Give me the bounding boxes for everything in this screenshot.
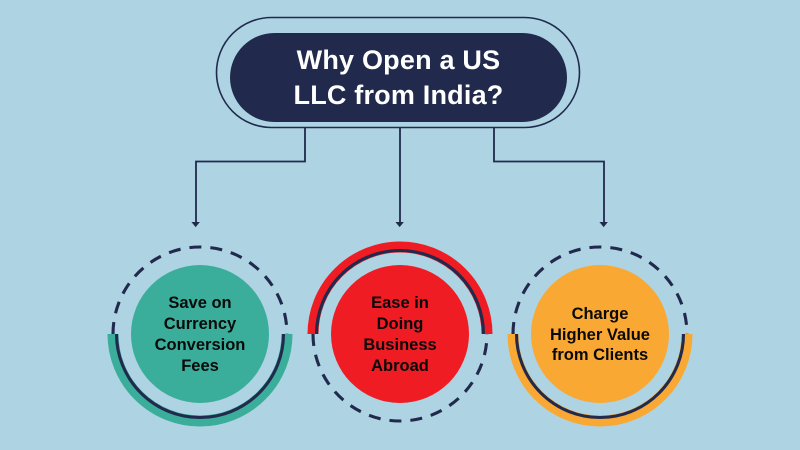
- infographic-canvas: Why Open a US LLC from India? Save on Cu…: [0, 0, 800, 450]
- node-charge-higher-value-from-clients[interactable]: [513, 247, 687, 421]
- node-mid-disc[interactable]: [331, 265, 469, 403]
- title-box: [217, 18, 580, 128]
- node-right-disc[interactable]: [531, 265, 669, 403]
- connector-arrow-left: [196, 128, 305, 224]
- node-save-on-currency-conversion-fees[interactable]: [113, 247, 287, 421]
- connector-group: [196, 128, 604, 224]
- node-left-disc[interactable]: [131, 265, 269, 403]
- title-fill: [230, 33, 567, 122]
- node-ease-in-doing-business-abroad[interactable]: [313, 247, 487, 421]
- connector-arrow-right: [494, 128, 604, 224]
- diagram-graphics: [0, 0, 800, 450]
